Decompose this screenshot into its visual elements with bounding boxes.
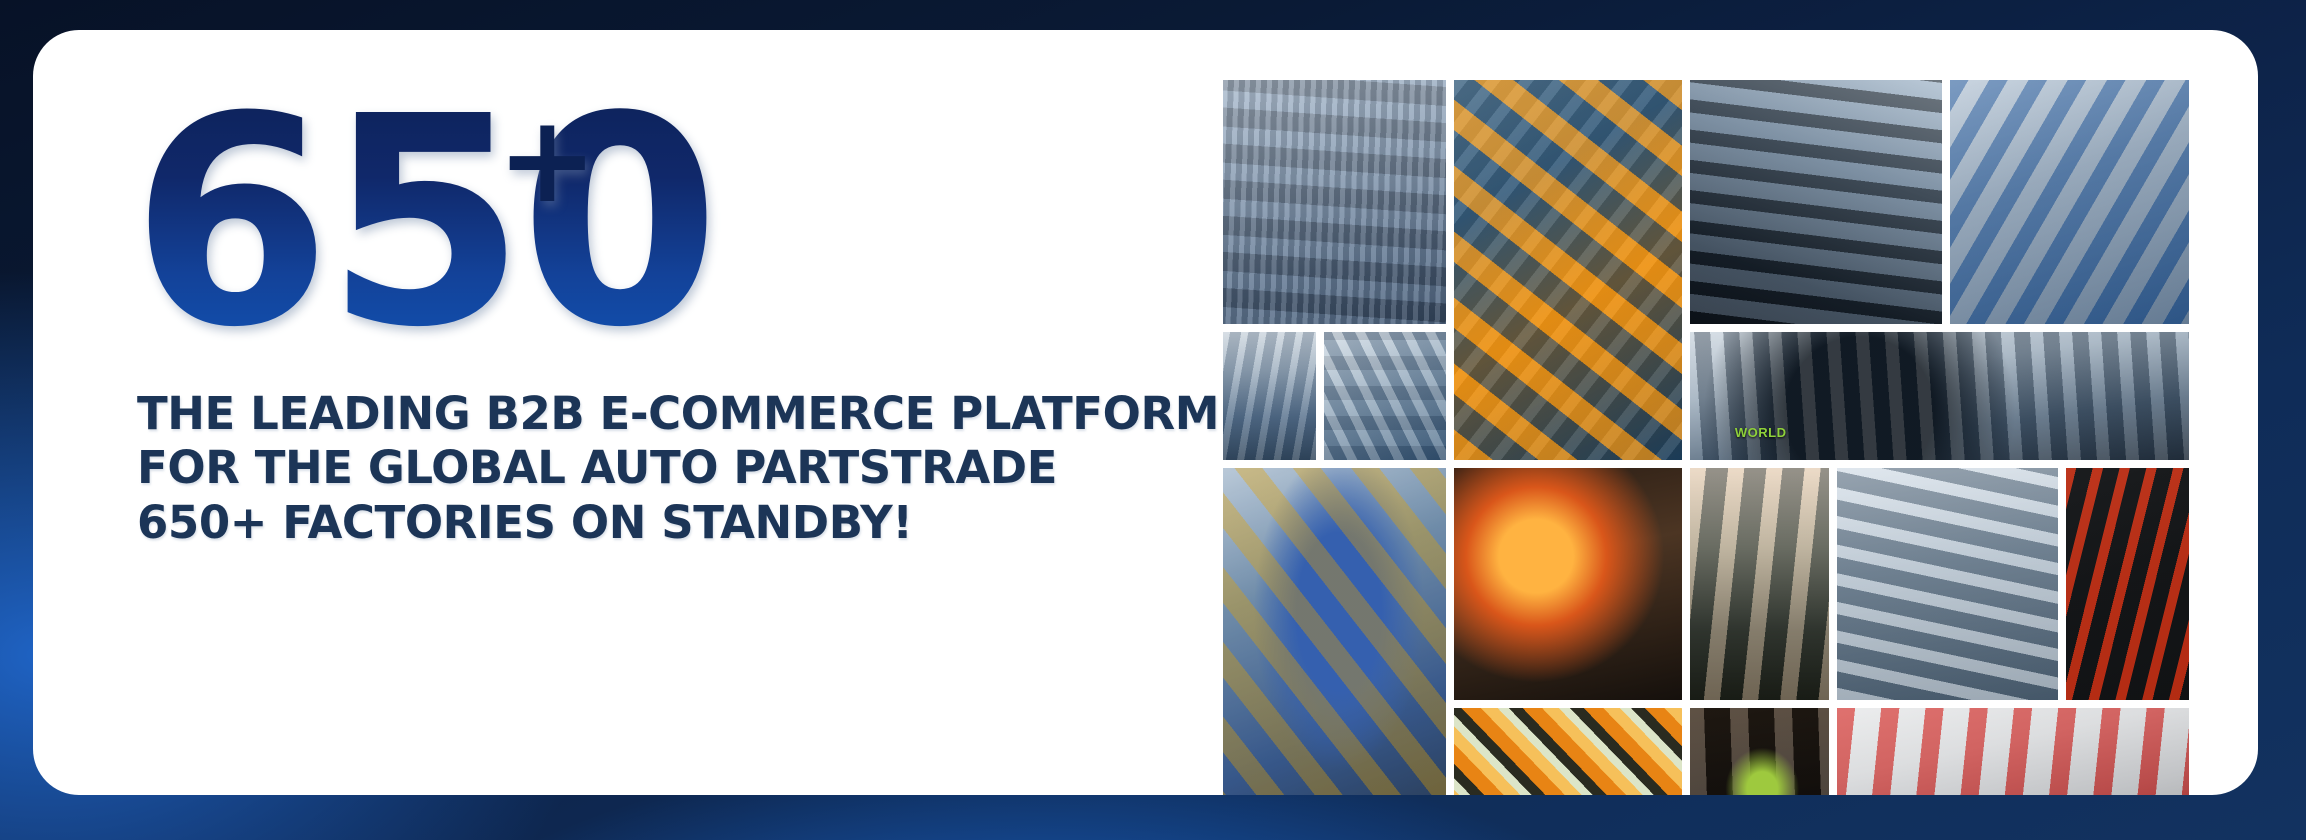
photo-shock-absorber-finishing-line: [1837, 468, 2058, 700]
headline-line-1: THE LEADING B2B E-COMMERCE PLATFORM: [137, 387, 1147, 441]
left-content-column: 650 + THE LEADING B2B E-COMMERCE PLATFOR…: [103, 125, 1183, 725]
stat-plus-suffix: +: [497, 101, 598, 221]
collage-tile-cnc-machining-station: [1950, 80, 2189, 324]
collage-tile-quality-inspection-table: [1690, 708, 1829, 795]
headline-line-3: 650+ FACTORIES ON STANDBY!: [137, 496, 1147, 550]
photo-quality-inspection-table: [1690, 708, 1829, 795]
photo-cnc-machining-station: [1950, 80, 2189, 324]
photo-robotic-welding-arms: [1454, 80, 1682, 460]
collage-tile-red-automated-press: [1837, 708, 2189, 795]
stat-block: 650 +: [103, 125, 1183, 395]
collage-tile-robotic-welding-arms: [1454, 80, 1682, 460]
collage-tile-parts-warehouse-racks: [1223, 332, 1316, 460]
photo-overhead-conveyor-line: [1324, 332, 1446, 460]
white-content-card: 650 + THE LEADING B2B E-COMMERCE PLATFOR…: [33, 30, 2258, 795]
photo-red-automated-press: [1837, 708, 2189, 795]
collage-tile-worker-at-parts-rack: WORLD: [1690, 332, 2189, 460]
promo-banner: 650 + THE LEADING B2B E-COMMERCE PLATFOR…: [0, 0, 2306, 840]
photo-shock-absorber-testing: [1690, 80, 1942, 324]
photo-hand-assembly-shock-absorbers: [1690, 468, 1829, 700]
factory-photo-collage: WORLD: [1223, 80, 2258, 795]
collage-tile-blue-robot-production-cell: [1223, 468, 1446, 795]
photo-oil-filter-stack: [1454, 708, 1682, 795]
collage-tile-hand-assembly-shock-absorbers: [1690, 468, 1829, 700]
collage-tile-shock-absorber-finishing-line: [1837, 468, 2058, 700]
photo-parts-warehouse-racks: [1223, 332, 1316, 460]
stat-number: 650: [131, 79, 714, 367]
collage-tile-shock-absorber-testing: [1690, 80, 1942, 324]
worker-shirt-logo-text: WORLD: [1735, 425, 1787, 440]
photo-automation-assembly-line: [1223, 80, 1446, 324]
collage-tile-oil-filter-stack: [1454, 708, 1682, 795]
collage-tile-automation-assembly-line: [1223, 80, 1446, 324]
collage-tile-hot-forging-furnace: [1454, 468, 1682, 700]
collage-tile-hot-press-forming: [2066, 468, 2189, 700]
photo-hot-press-forming: [2066, 468, 2189, 700]
collage-tile-overhead-conveyor-line: [1324, 332, 1446, 460]
headline-line-2: FOR THE GLOBAL AUTO PARTSTRADE: [137, 441, 1147, 495]
photo-blue-robot-production-cell: [1223, 468, 1446, 795]
photo-hot-forging-furnace: [1454, 468, 1682, 700]
headline-block: THE LEADING B2B E-COMMERCE PLATFORM FOR …: [137, 387, 1147, 550]
photo-worker-at-parts-rack: [1690, 332, 2189, 460]
